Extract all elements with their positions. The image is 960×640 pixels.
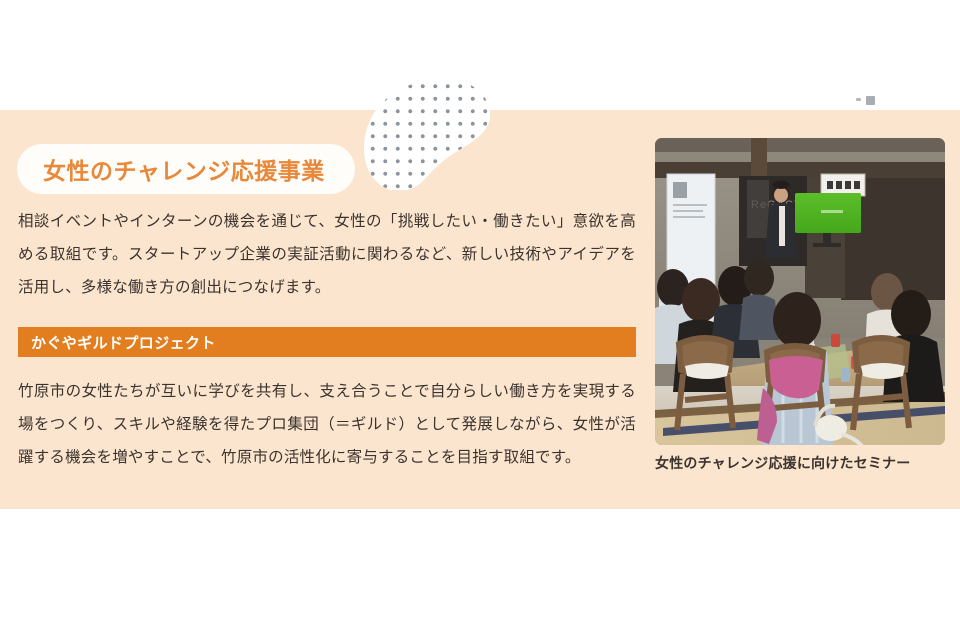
document-page: 女性のチャレンジ応援事業 相談イベントやインターンの機会を通じて、女性の「挑戦し… [0,0,960,640]
dot-speck-decoration-small [856,98,861,101]
subsection-paragraph: 竹原市の女性たちが互いに学びを共有し、支え合うことで自分らしい働き方を実現する場… [18,375,636,474]
intro-paragraph: 相談イベントやインターンの機会を通じて、女性の「挑戦したい・働きたい」意欲を高め… [18,205,636,304]
seminar-photo: ReGACY [655,138,945,445]
section-title-pill: 女性のチャレンジ応援事業 [17,144,355,194]
text-column: 相談イベントやインターンの機会を通じて、女性の「挑戦したい・働きたい」意欲を高め… [18,205,636,474]
subsection-banner-label: かぐやギルドプロジェクト [31,332,216,353]
figure-caption: 女性のチャレンジ応援に向けたセミナー [655,453,945,473]
page-title: 女性のチャレンジ応援事業 [43,152,325,186]
figure: ReGACY [655,138,945,473]
subsection-banner: かぐやギルドプロジェクト [18,327,636,357]
dot-speck-decoration [866,96,875,105]
